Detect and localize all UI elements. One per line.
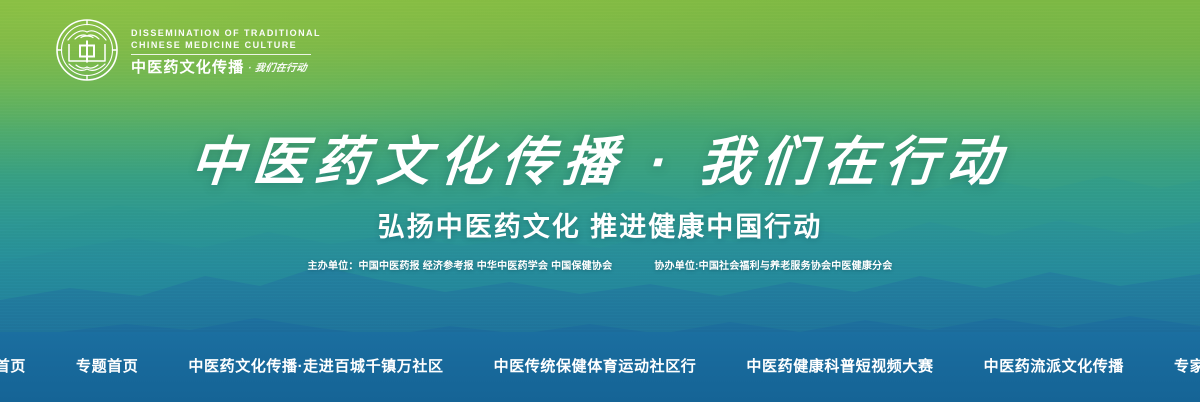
organizer-text: 主办单位：中国中医药报 经济参考报 中华中医药学会 中国保健协会 xyxy=(308,260,613,274)
nav-item-xinhua-home[interactable]: 新华网首页 xyxy=(0,353,32,381)
coorganizer-text: 协办单位:中国社会福利与养老服务协会中医健康分会 xyxy=(654,260,892,274)
nav-item-expert-committee[interactable]: 专家委员会 xyxy=(1168,353,1200,381)
nav-item-traditional-sports[interactable]: 中医传统保健体育运动社区行 xyxy=(488,353,703,381)
hero-section: 中医药文化传播 · 我们在行动 弘扬中医药文化 推进健康中国行动 主办单位：中国… xyxy=(0,132,1200,274)
logo-text-block: DISSEMINATION OF TRADITIONAL CHINESE MED… xyxy=(131,25,321,76)
logo-divider xyxy=(131,54,311,55)
page-banner: DISSEMINATION OF TRADITIONAL CHINESE MED… xyxy=(0,0,1200,402)
main-navigation[interactable]: 新华网首页 专题首页 中医药文化传播·走进百城千镇万社区 中医传统保健体育运动社… xyxy=(0,332,1200,402)
logo-english-line-2: CHINESE MEDICINE CULTURE xyxy=(131,39,321,51)
logo-english-line-1: DISSEMINATION OF TRADITIONAL xyxy=(131,27,321,39)
nav-item-short-video-contest[interactable]: 中医药健康科普短视频大赛 xyxy=(740,353,939,381)
nav-item-topic-home[interactable]: 专题首页 xyxy=(70,353,144,381)
nav-item-school-culture[interactable]: 中医药流派文化传播 xyxy=(978,353,1130,381)
logo-chinese-suffix: · 我们在行动 xyxy=(247,61,308,76)
logo-chinese-title: 中医药文化传播 xyxy=(131,59,244,76)
page-subtitle: 弘扬中医药文化 推进健康中国行动 xyxy=(0,210,1200,244)
organizer-line: 主办单位：中国中医药报 经济参考报 中华中医药学会 中国保健协会 协办单位:中国… xyxy=(0,260,1200,274)
logo-chinese-row: 中医药文化传播 · 我们在行动 xyxy=(131,59,321,76)
nav-item-culture-communities[interactable]: 中医药文化传播·走进百城千镇万社区 xyxy=(182,353,449,381)
circular-seal-book-zhong-icon xyxy=(55,18,119,82)
page-title: 中医药文化传播 · 我们在行动 xyxy=(0,132,1200,194)
site-logo[interactable]: DISSEMINATION OF TRADITIONAL CHINESE MED… xyxy=(55,18,321,82)
